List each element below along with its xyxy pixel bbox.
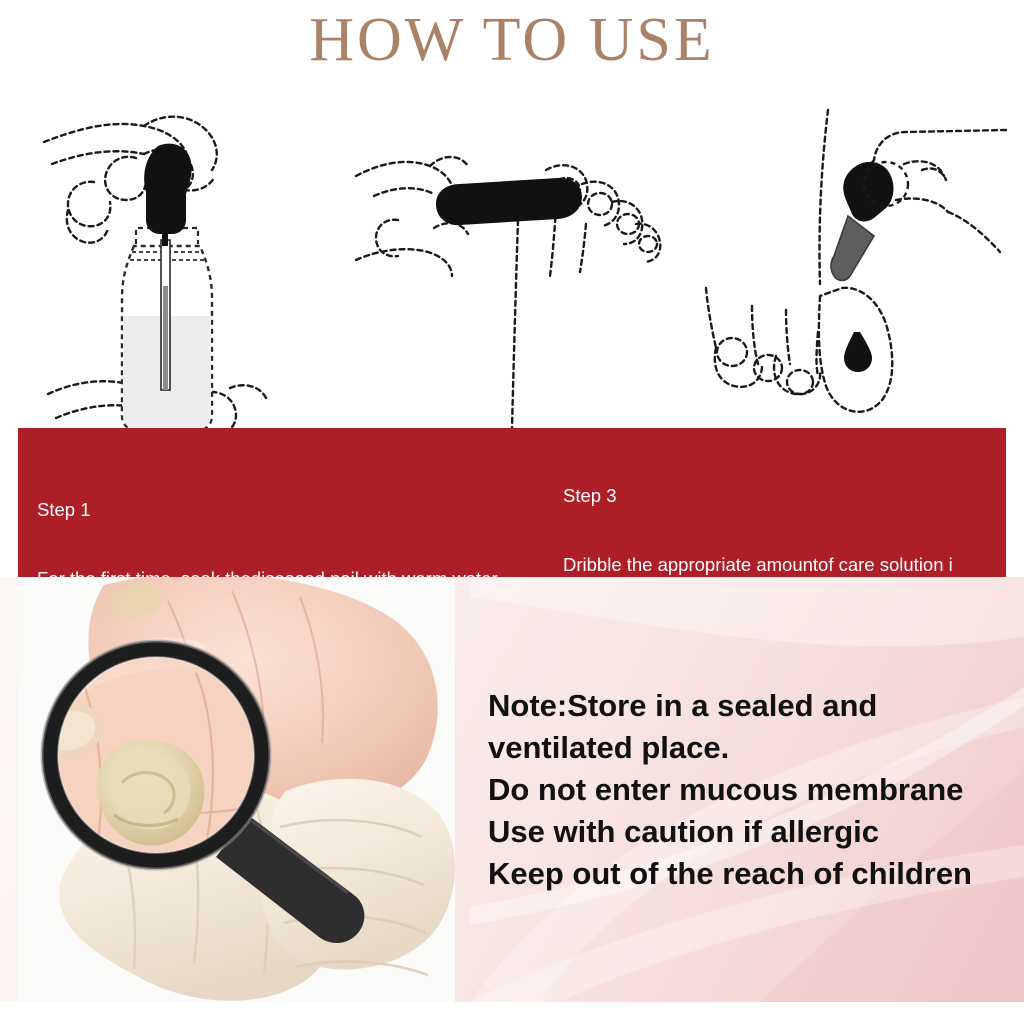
step-1-heading: Step 1 xyxy=(37,498,557,521)
page-title: HOW TO USE xyxy=(0,8,1024,73)
illustration-hand-filing-toenail xyxy=(350,100,670,428)
steps-banner: Step 1 For the first time. soak thedisea… xyxy=(18,428,1006,577)
how-to-use-infographic: HOW TO USE xyxy=(0,0,1024,1024)
illustration-strip xyxy=(0,100,1024,428)
lower-section: Note:Store in a sealed and ventilated pl… xyxy=(0,577,1024,1002)
magnifier-over-fungal-toenail-photo xyxy=(18,577,455,1002)
note-text: Note:Store in a sealed and ventilated pl… xyxy=(488,685,1018,895)
step-3-heading: Step 3 xyxy=(563,484,993,507)
illustration-hand-applying-drop-to-toenail xyxy=(690,100,1010,428)
illustration-hand-holding-dropper-bottle xyxy=(40,100,340,428)
